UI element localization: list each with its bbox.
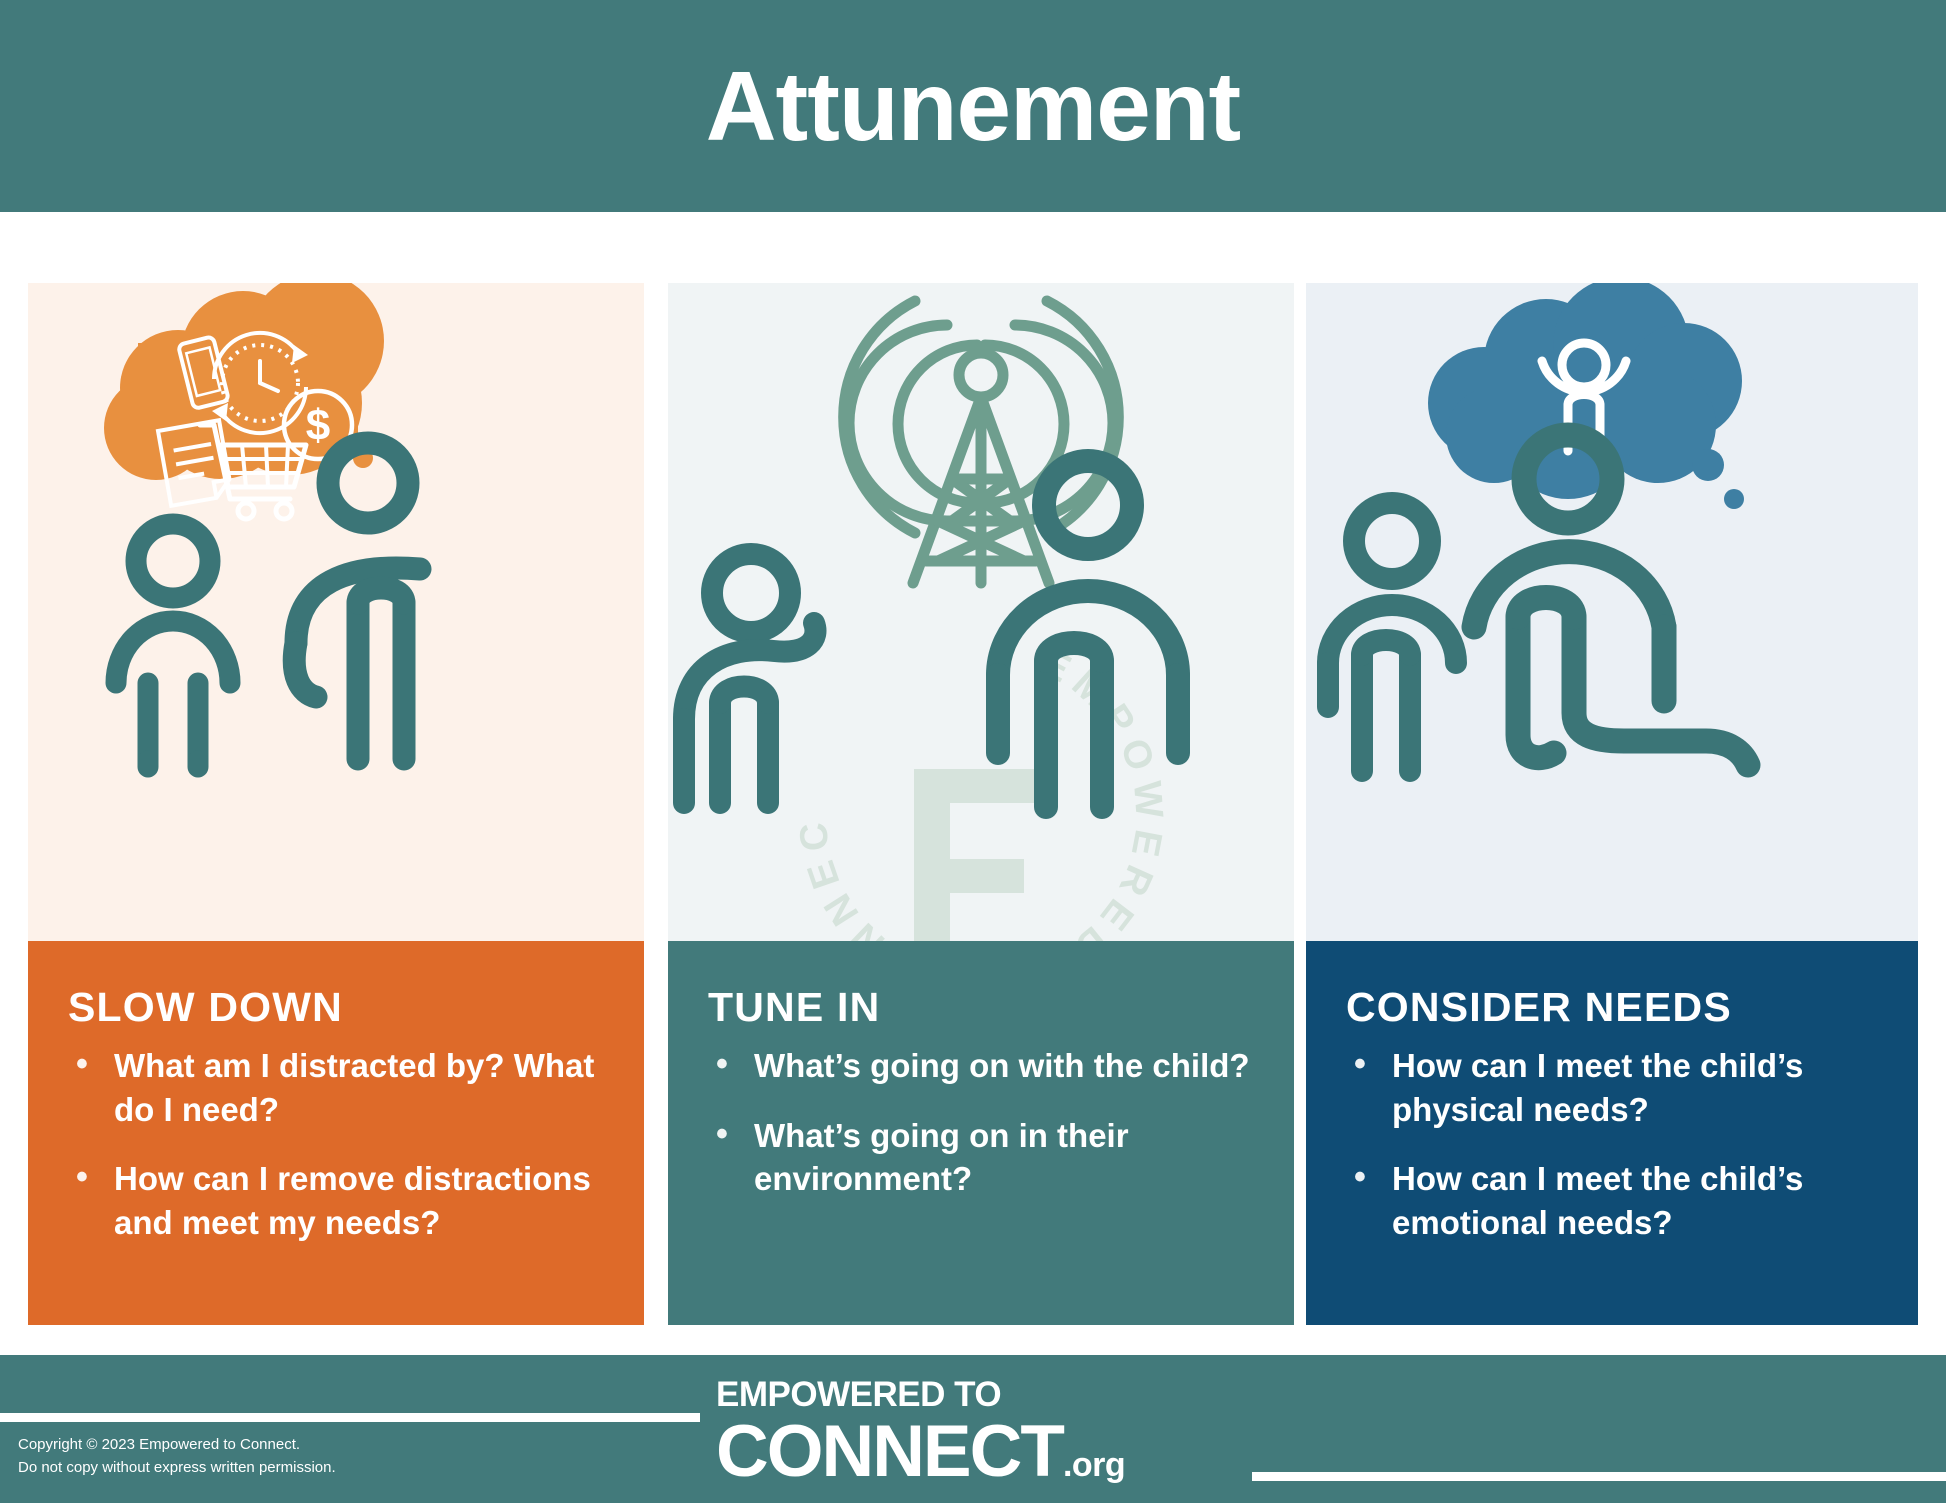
tune-in-artwork [668, 283, 1294, 941]
panel-consider-needs-bullets: How can I meet the child’s physical need… [1346, 1044, 1878, 1244]
panel-consider-needs: CONSIDER NEEDS How can I meet the child’… [1306, 283, 1918, 1325]
panel-slow-down-text: SLOW DOWN What am I distracted by? What … [28, 941, 644, 1325]
footer-divider-right [1252, 1472, 1946, 1481]
panel-tune-in-illustration: EMPOWERED TO CONNECT [668, 283, 1294, 941]
logo-tld: .org [1063, 1448, 1125, 1482]
panel-slow-down-illustration: $ [28, 283, 644, 941]
copyright-line-2: Do not copy without express written perm… [18, 1456, 336, 1479]
panel-tune-in-bullets: What’s going on with the child? What’s g… [708, 1044, 1254, 1201]
list-item: How can I remove distractions and meet m… [68, 1157, 604, 1244]
page-header: Attunement [0, 0, 1946, 212]
radio-tower-icon [913, 353, 1049, 583]
list-item: How can I meet the child’s emotional nee… [1346, 1157, 1878, 1244]
page-title: Attunement [706, 57, 1240, 155]
list-item: What am I distracted by? What do I need? [68, 1044, 604, 1131]
panel-consider-needs-text: CONSIDER NEEDS How can I meet the child’… [1306, 941, 1918, 1325]
adult-figure [1474, 435, 1748, 765]
svg-text:$: $ [306, 401, 330, 450]
panel-tune-in: EMPOWERED TO CONNECT [668, 283, 1294, 1325]
bubble-dot-large [1692, 449, 1724, 481]
slow-down-artwork: $ [28, 283, 644, 941]
panel-consider-needs-illustration [1306, 283, 1918, 941]
adult-figure [294, 443, 420, 759]
empowered-to-connect-logo[interactable]: EMPOWERED TO CONNECT.org [716, 1377, 1256, 1488]
footer-divider-left [0, 1413, 700, 1422]
page-footer: EMPOWERED TO CONNECT.org Copyright © 202… [0, 1355, 1946, 1503]
consider-needs-artwork [1306, 283, 1918, 941]
panel-tune-in-heading: TUNE IN [708, 985, 1254, 1030]
logo-tagline: EMPOWERED TO [716, 1377, 1256, 1412]
panel-slow-down-heading: SLOW DOWN [68, 985, 604, 1030]
infographic-page: Attunement [0, 0, 1946, 1503]
panel-consider-needs-heading: CONSIDER NEEDS [1346, 985, 1878, 1030]
logo-wordmark-text: CONNECT [716, 1415, 1063, 1488]
list-item: How can I meet the child’s physical need… [1346, 1044, 1878, 1131]
panel-tune-in-text: TUNE IN What’s going on with the child? … [668, 941, 1294, 1325]
logo-wordmark: CONNECT.org [716, 1415, 1256, 1488]
child-figure [1328, 503, 1456, 771]
bubble-dot-small [1724, 489, 1744, 509]
child-figure [116, 524, 230, 767]
panel-slow-down-bullets: What am I distracted by? What do I need?… [68, 1044, 604, 1244]
list-item: What’s going on with the child? [708, 1044, 1254, 1088]
child-figure [684, 554, 815, 803]
panel-slow-down: $ [28, 283, 644, 1325]
copyright-line-1: Copyright © 2023 Empowered to Connect. [18, 1433, 336, 1456]
copyright-notice: Copyright © 2023 Empowered to Connect. D… [18, 1433, 336, 1480]
list-item: What’s going on in their environment? [708, 1114, 1254, 1201]
panels-row: $ [0, 283, 1946, 1325]
